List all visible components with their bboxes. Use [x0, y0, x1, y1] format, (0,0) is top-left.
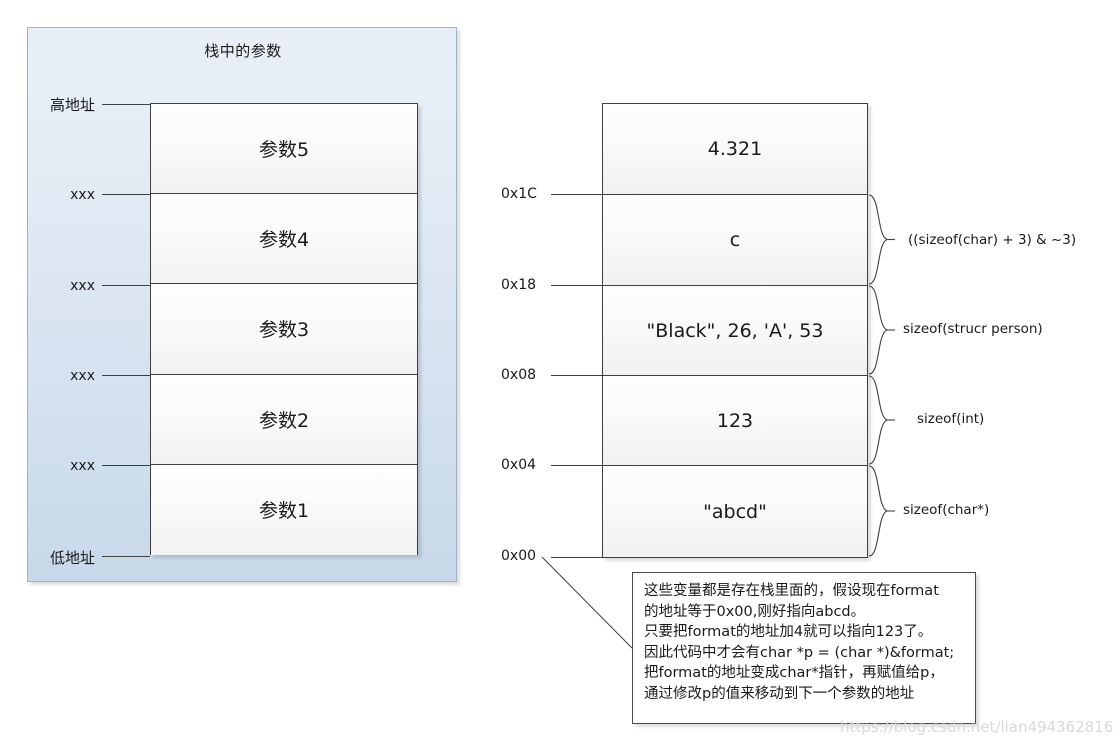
note-line-1: 这些变量都是存在栈里面的，假设现在format	[644, 581, 965, 602]
note-line-3: 只要把format的地址加4就可以指向123了。	[644, 622, 965, 643]
brace-label-sizeof-struct: sizeof(strucr person)	[903, 321, 1043, 337]
brace-label-sizeof-int: sizeof(int)	[917, 411, 984, 427]
explanation-note-box: 这些变量都是存在栈里面的，假设现在format 的地址等于0x00,刚好指向ab…	[632, 572, 976, 724]
brace-sizeof-charptr-icon	[868, 465, 898, 557]
brace-label-sizeof-char: ((sizeof(char) + 3) & ~3)	[908, 232, 1076, 248]
note-line-6: 通过修改p的值来移动到下一个参数的地址	[644, 684, 965, 705]
brace-sizeof-struct-icon	[868, 285, 898, 375]
diagram-canvas: 栈中的参数 高地址 xxx xxx xxx xxx 低地址 参数5 参数4 参数…	[0, 0, 1120, 746]
brace-sizeof-int-icon	[868, 375, 898, 465]
brace-sizeof-char-icon	[868, 194, 898, 285]
note-line-4: 因此代码中才会有char *p = (char *)&format;	[644, 643, 965, 664]
note-line-2: 的地址等于0x00,刚好指向abcd。	[644, 602, 965, 623]
brace-label-sizeof-charptr: sizeof(char*)	[903, 502, 989, 518]
watermark-text: https://blog.csdn.net/lian494362816	[840, 718, 1113, 736]
note-line-5: 把format的地址变成char*指针，再赋值给p，	[644, 663, 965, 684]
